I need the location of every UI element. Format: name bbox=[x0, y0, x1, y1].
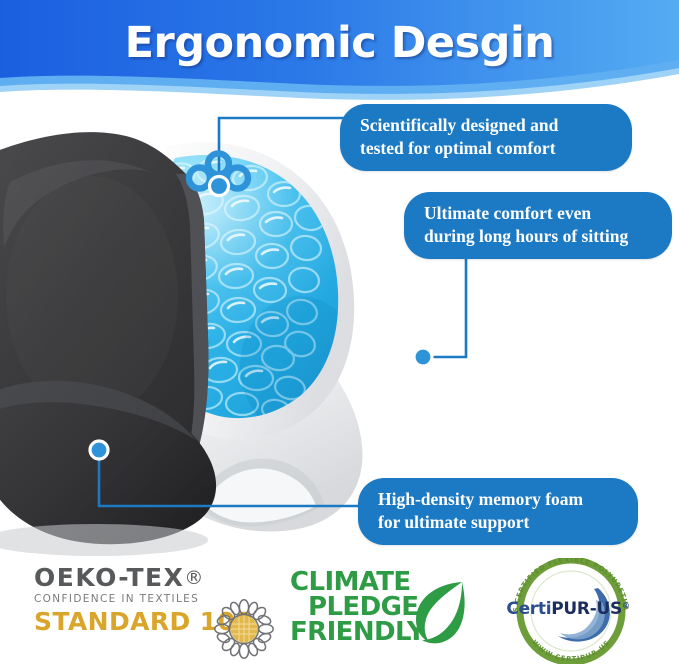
badge-certipur-us: CONTAINS CERTIFIED FLEXIBLE POLYURETHANE… bbox=[486, 558, 656, 664]
certipur-center-b: PUR-US bbox=[551, 599, 622, 619]
leaf-icon bbox=[410, 576, 472, 648]
header-banner: Ergonomic Desgin bbox=[0, 0, 679, 108]
climate-pledge-wordmark: CLIMATE PLEDGE FRIENDLY bbox=[290, 570, 425, 645]
callout-ultimate-comfort: Ultimate comfort even during long hours … bbox=[404, 192, 672, 259]
callout-scientific-design: Scientifically designed and tested for o… bbox=[340, 104, 632, 171]
certipur-center-label: CertiPUR-US® bbox=[486, 558, 656, 664]
page-title: Ergonomic Desgin bbox=[0, 18, 679, 68]
infographic-canvas: Ergonomic Desgin bbox=[0, 0, 679, 666]
cpf-line-3: FRIENDLY bbox=[290, 620, 425, 645]
registered-icon: ® bbox=[622, 601, 630, 610]
callout-memory-foam: High-density memory foam for ultimate su… bbox=[358, 478, 638, 545]
badge-climate-pledge-friendly: CLIMATE PLEDGE FRIENDLY bbox=[290, 570, 475, 654]
certification-badge-row: OEKO-TEX® CONFIDENCE IN TEXTILES STANDAR… bbox=[0, 556, 679, 666]
certipur-center-a: Certi bbox=[506, 599, 551, 619]
registered-icon: ® bbox=[184, 567, 203, 589]
badge-oeko-tex: OEKO-TEX® CONFIDENCE IN TEXTILES STANDAR… bbox=[34, 564, 269, 656]
oeko-tex-flower-emblem bbox=[213, 598, 275, 660]
oeko-tex-brand-text: OEKO-TEX bbox=[34, 563, 184, 592]
oeko-tex-brand: OEKO-TEX® bbox=[34, 564, 269, 592]
